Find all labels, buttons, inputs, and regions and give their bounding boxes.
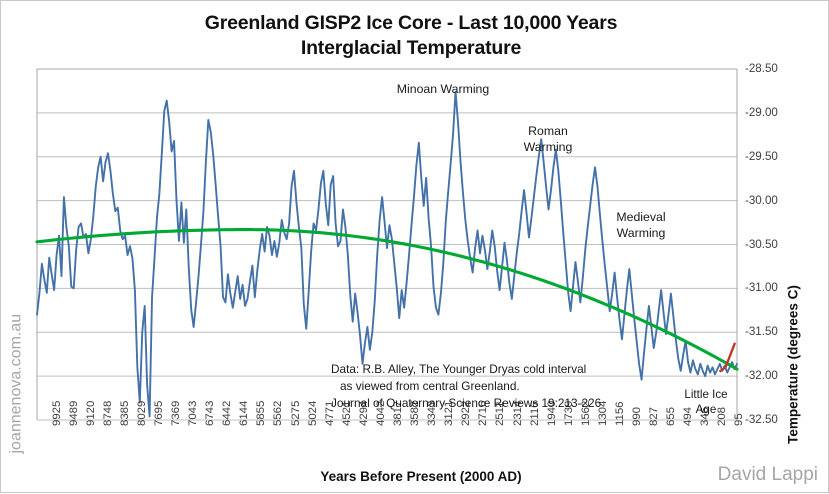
- x-axis-tick-label: 9489: [68, 401, 80, 426]
- y-axis-tick-label: -31.00: [745, 281, 778, 294]
- citation-line-1: Data: R.B. Alley, The Younger Dryas cold…: [331, 361, 601, 378]
- y-axis-tick-label: -29.00: [745, 106, 778, 119]
- y-axis-tick-label: -30.00: [745, 194, 778, 207]
- chart-frame: Greenland GISP2 Ice Core - Last 10,000 Y…: [0, 0, 829, 493]
- y-axis-tick-label: -29.50: [745, 150, 778, 163]
- annotation-little-ice-age-line-2: Age: [661, 402, 751, 417]
- x-axis-tick-label: 827: [648, 407, 660, 426]
- annotation-medieval-warming-line-1: Medieval: [586, 209, 696, 225]
- annotation-little-ice-age: Little Ice Age: [661, 387, 751, 417]
- x-axis-tick-label: 6743: [204, 401, 216, 426]
- x-axis-tick-label: 7369: [170, 401, 182, 426]
- annotation-roman-warming: Roman Warming: [493, 123, 603, 155]
- y-axis-tick-label: -32.00: [745, 369, 778, 382]
- annotation-roman-warming-line-2: Warming: [493, 139, 603, 155]
- x-axis-tick-label: 8385: [119, 401, 131, 426]
- y-axis-title-container: Temperature (degrees C): [802, 121, 826, 361]
- watermark-author: David Lappi: [718, 464, 818, 486]
- x-axis-tick-label: 7043: [187, 401, 199, 426]
- x-axis-tick-label: 5855: [255, 401, 267, 426]
- x-axis-tick-label: 1156: [614, 402, 626, 427]
- x-axis-tick-label: 8748: [102, 401, 114, 426]
- annotation-little-ice-age-line-1: Little Ice: [661, 387, 751, 402]
- x-axis-tick-label: 8029: [136, 401, 148, 426]
- x-axis-tick-label: 7695: [153, 401, 165, 426]
- y-axis-tick-label: -30.50: [745, 238, 778, 251]
- x-axis-tick-label: 5562: [272, 401, 284, 426]
- citation-line-2: as viewed from central Greenland.: [331, 378, 601, 395]
- x-axis-tick-label: 9925: [51, 401, 63, 426]
- x-axis-title: Years Before Present (2000 AD): [261, 469, 581, 484]
- annotation-minoan-warming: Minoan Warming: [373, 81, 513, 97]
- x-axis-tick-label: 990: [631, 407, 643, 426]
- y-axis-tick-label: -31.50: [745, 325, 778, 338]
- annotation-roman-warming-line-1: Roman: [493, 123, 603, 139]
- x-axis-tick-label: 5024: [307, 401, 319, 426]
- x-axis-tick-label: 5275: [290, 401, 302, 426]
- y-axis-title: Temperature (degrees C): [786, 270, 801, 460]
- annotation-medieval-warming: Medieval Warming: [586, 209, 696, 241]
- citation-line-3: Journal of Quaternary Science Reviews 19…: [331, 395, 601, 412]
- watermark-site-url: joannenova.com.au: [8, 239, 26, 454]
- y-axis-tick-label: -28.50: [745, 62, 778, 75]
- watermark-left-container: joannenova.com.au: [5, 241, 27, 456]
- x-axis-tick-label: 9120: [85, 401, 97, 426]
- annotation-medieval-warming-line-2: Warming: [586, 225, 696, 241]
- x-axis-tick-label: 6442: [221, 401, 233, 426]
- x-axis-tick-label: 6144: [238, 401, 250, 426]
- data-source-citation: Data: R.B. Alley, The Younger Dryas cold…: [331, 361, 601, 412]
